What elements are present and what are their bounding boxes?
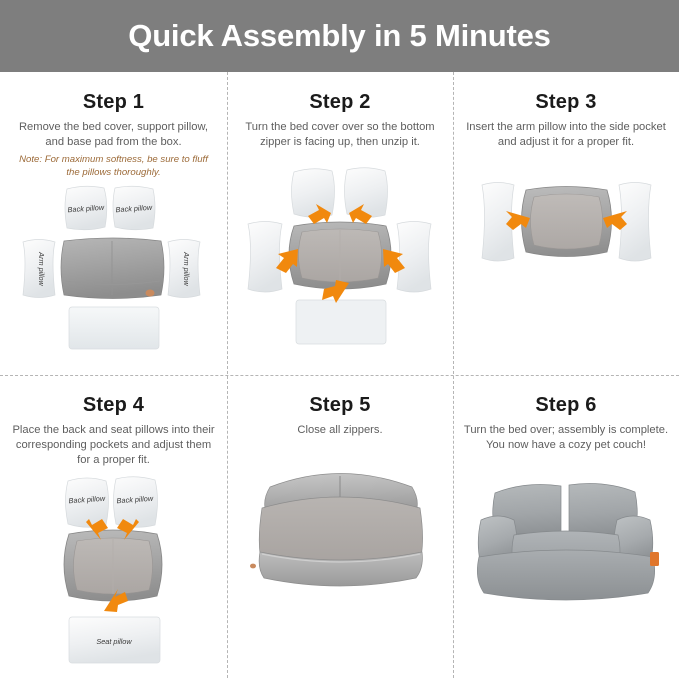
step-cell-1: Step 1 Remove the bed cover, support pil… xyxy=(0,72,227,375)
base-pad xyxy=(69,307,159,349)
step-1-title: Step 1 xyxy=(83,91,144,114)
step-cell-3: Step 3 Insert the arm pillow into the si… xyxy=(453,72,679,375)
seat-pillow: Seat pillow xyxy=(69,617,160,663)
arm-pillow-right: Arm pillow xyxy=(168,240,200,298)
back-pillow-right xyxy=(344,168,387,218)
step-cell-2: Step 2 Turn the bed cover over so the bo… xyxy=(227,72,453,375)
arm-pillow-left: Arm pillow xyxy=(23,240,55,298)
step-4-illustration: Back pillow Back pillow Seat pillow xyxy=(9,472,218,678)
step-3-diagram xyxy=(462,154,671,339)
step-6-title: Step 6 xyxy=(535,394,596,417)
step-1-description: Remove the bed cover, support pillow, an… xyxy=(11,120,216,150)
bed-cover-unzipped xyxy=(289,222,391,289)
header-banner: Quick Assembly in 5 Minutes xyxy=(0,0,679,72)
step-1-note: Note: For maximum softness, be sure to f… xyxy=(16,154,212,179)
arm-pillow-right xyxy=(397,222,431,293)
step-6-illustration xyxy=(462,457,671,678)
step-1-illustration: Back pillow Back pillow Arm pillow Arm p… xyxy=(9,183,218,375)
step-5-title: Step 5 xyxy=(309,394,370,417)
step-4-description: Place the back and seat pillows into the… xyxy=(11,423,216,468)
back-pillow-left xyxy=(291,169,334,218)
page-title: Quick Assembly in 5 Minutes xyxy=(128,18,550,54)
base-pad xyxy=(296,300,386,344)
step-5-diagram xyxy=(236,442,445,632)
back-pillow-right: Back pillow xyxy=(113,186,155,230)
step-4-diagram: Back pillow Back pillow Seat pillow xyxy=(9,472,218,667)
seat-pillow-label: Seat pillow xyxy=(96,637,132,646)
back-pillow-left: Back pillow xyxy=(65,186,107,230)
step-cell-5: Step 5 Close all zippers. xyxy=(227,375,453,678)
step-6-description: Turn the bed over; assembly is complete.… xyxy=(464,423,669,453)
back-pillow-right: Back pillow xyxy=(114,477,158,528)
step-5-description: Close all zippers. xyxy=(297,423,382,438)
step-cell-6: Step 6 Turn the bed over; assembly is co… xyxy=(453,375,679,678)
step-cell-4: Step 4 Place the back and seat pillows i… xyxy=(0,375,227,678)
step-3-title: Step 3 xyxy=(535,91,596,114)
step-3-description: Insert the arm pillow into the side pock… xyxy=(464,120,669,150)
bed-cover-unzipped xyxy=(521,187,611,257)
arm-pillow-left-label: Arm pillow xyxy=(37,251,46,286)
couch-brand-tag xyxy=(650,552,659,566)
bed-brand-tag xyxy=(250,564,256,569)
arm-pillow-left xyxy=(248,222,282,293)
step-1-diagram: Back pillow Back pillow Arm pillow Arm p… xyxy=(9,183,218,363)
step-2-title: Step 2 xyxy=(309,91,370,114)
step-2-illustration xyxy=(236,154,445,375)
bed-cover-unzipped xyxy=(64,530,162,601)
step-5-illustration xyxy=(236,442,445,678)
step-3-illustration xyxy=(462,154,671,375)
arm-pillow-right-label: Arm pillow xyxy=(182,251,191,286)
bed-cover xyxy=(61,238,164,299)
steps-grid: Step 1 Remove the bed cover, support pil… xyxy=(0,72,679,678)
step-4-title: Step 4 xyxy=(83,394,144,417)
couch-base xyxy=(477,550,654,600)
step-2-description: Turn the bed cover over so the bottom zi… xyxy=(238,120,443,150)
step-6-diagram xyxy=(462,457,671,647)
step-2-diagram xyxy=(236,154,445,349)
